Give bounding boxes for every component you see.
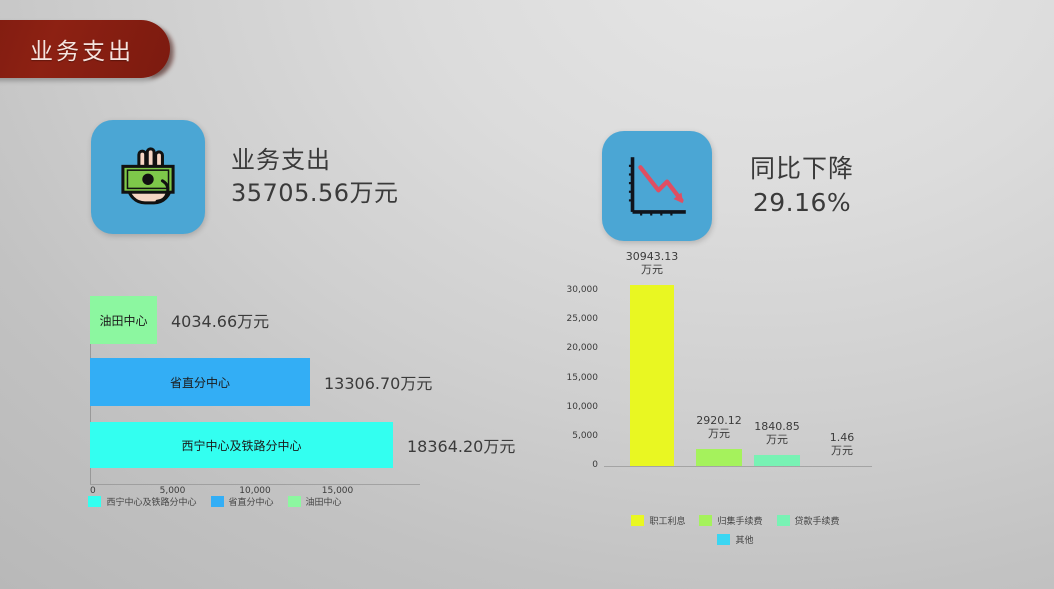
y-tick-label: 25,000 [560,314,598,324]
legend-swatch [288,496,301,507]
legend-label: 西宁中心及铁路分中心 [106,495,196,508]
bar-2 [696,449,742,466]
vertical-bar-chart: 05,00010,00015,00020,00025,00030,000 309… [560,265,910,545]
bar-value-label: 18364.20万元 [407,433,515,457]
kpi-card-decrease: 同比下降 29.16% [602,131,854,241]
bar-category-label: 西宁中心及铁路分中心 [181,437,301,454]
y-tick-label: 20,000 [560,343,598,353]
bar-rect [696,449,742,466]
bar-rect [754,455,800,466]
legend-swatch [717,534,730,545]
legend-item[interactable]: 职工利息 [631,514,685,527]
bar-rect [630,285,674,466]
bar-value-label: 4034.66万元 [171,308,269,332]
y-tick-label: 0 [560,460,598,470]
legend-label: 归集手续费 [717,514,762,527]
legend-label: 其他 [735,533,753,546]
bar-value-label: 30943.13万元 [618,251,686,276]
legend-item[interactable]: 其他 [717,533,753,546]
money-in-hand-icon [91,120,205,234]
bar-2: 省直分中心13306.70万元 [90,358,310,406]
legend-swatch [88,496,101,507]
chart-x-axis [90,484,420,485]
legend-swatch [631,515,644,526]
vertical-bar-legend-row-2: 其他 [598,533,873,546]
legend-label: 贷款手续费 [795,514,840,527]
y-tick-label: 10,000 [560,402,598,412]
legend-item[interactable]: 贷款手续费 [777,514,840,527]
legend-swatch [211,496,224,507]
bar-1 [630,285,674,466]
legend-swatch [777,515,790,526]
kpi-text-expense: 业务支出 35705.56万元 [231,144,399,210]
declining-chart-icon [602,131,712,241]
page-title: 业务支出 [6,32,134,66]
y-tick-label: 15,000 [560,373,598,383]
kpi-card-expense: 业务支出 35705.56万元 [91,120,399,234]
kpi-label: 同比下降 [750,152,854,187]
kpi-value: 35705.56万元 [231,177,399,210]
legend-item[interactable]: 西宁中心及铁路分中心 [88,495,196,508]
chart-x-axis [604,466,872,467]
slide-canvas: 业务支出 业务支出 35705.5 [0,0,1054,589]
bar-value-label: 13306.70万元 [324,370,432,394]
bar-value-label: 1.46万元 [808,432,876,457]
kpi-value: 29.16% [750,186,854,221]
legend-label: 职工利息 [649,514,685,527]
bar-rect: 油田中心 [90,296,157,344]
bar-value-label: 1840.85万元 [742,421,812,446]
bar-rect: 西宁中心及铁路分中心 [90,422,393,468]
y-tick-label: 5,000 [560,431,598,441]
legend-label: 省直分中心 [229,495,274,508]
legend-item[interactable]: 省直分中心 [211,495,274,508]
kpi-text-decrease: 同比下降 29.16% [750,152,854,221]
y-tick-label: 30,000 [560,285,598,295]
horizontal-bar-chart: 西宁中心及铁路分中心18364.20万元省直分中心13306.70万元油田中心4… [80,296,480,511]
bar-rect: 省直分中心 [90,358,310,406]
kpi-label: 业务支出 [231,144,399,177]
legend-swatch [699,515,712,526]
legend-item[interactable]: 归集手续费 [699,514,762,527]
vertical-bar-legend-row-1: 职工利息归集手续费贷款手续费 [598,514,873,527]
bar-1: 西宁中心及铁路分中心18364.20万元 [90,422,393,468]
title-banner: 业务支出 [0,20,170,78]
bar-3: 油田中心4034.66万元 [90,296,157,344]
legend-item[interactable]: 油田中心 [288,495,342,508]
bar-category-label: 油田中心 [99,312,147,329]
bar-3 [754,455,800,466]
legend-label: 油田中心 [306,495,342,508]
horizontal-bar-legend: 西宁中心及铁路分中心省直分中心油田中心 [90,495,340,508]
bar-category-label: 省直分中心 [170,374,230,391]
